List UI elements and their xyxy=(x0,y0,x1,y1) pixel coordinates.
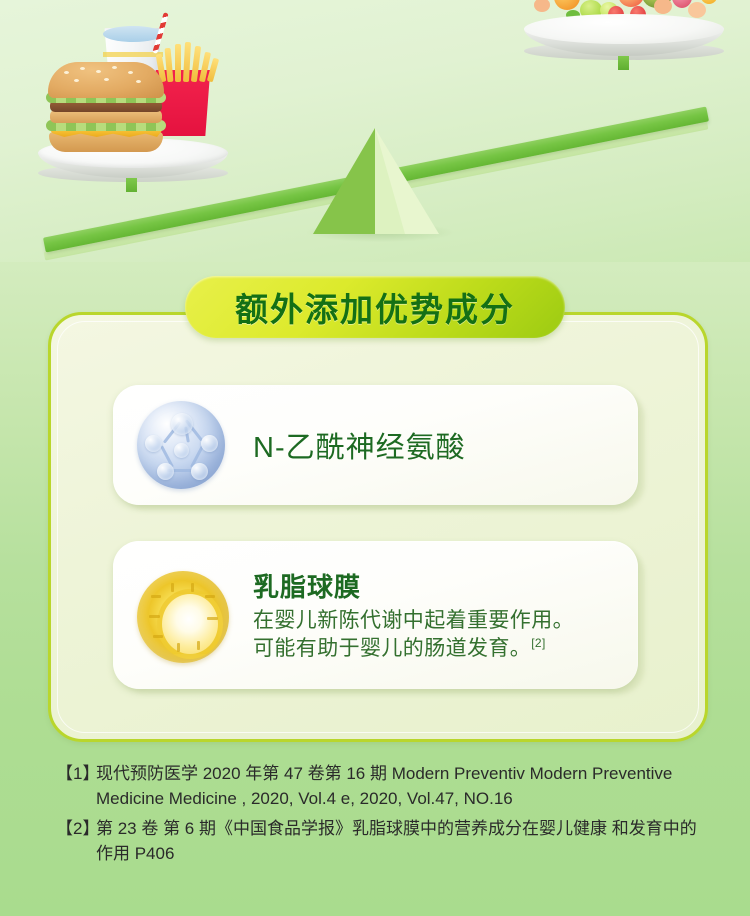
golden-milk-fat-globule-icon xyxy=(131,565,231,665)
section-title-text: 额外添加优势成分 xyxy=(235,283,515,331)
card-1-text: N-乙酰神经氨酸 xyxy=(231,424,638,466)
right-platter xyxy=(524,14,724,62)
left-platter-stem xyxy=(126,178,137,192)
footnote-1-body: 现代预防医学 2020 年第 47 卷第 16 期 Modern Prevent… xyxy=(96,762,704,811)
ingredient-card-sialic-acid[interactable]: N-乙酰神经氨酸 xyxy=(113,385,638,505)
drink-ice-top xyxy=(103,26,163,42)
blue-sphere xyxy=(137,401,225,489)
burger-top-bun xyxy=(48,62,164,98)
ingredient-card-mfgm[interactable]: 乳脂球膜 在婴儿新陈代谢中起着重要作用。 可能有助于婴儿的肠道发育。[2] xyxy=(113,541,638,689)
footnote-2: 【2】 第 23 卷 第 6 期《中国食品学报》乳脂球膜中的营养成分在婴儿健康 … xyxy=(56,817,704,866)
card-2-desc-line-2-wrap: 可能有助于婴儿的肠道发育。[2] xyxy=(253,635,638,663)
card-1-title: N-乙酰神经氨酸 xyxy=(253,424,638,466)
card-2-title: 乳脂球膜 xyxy=(253,567,638,604)
fast-food-group-icon xyxy=(40,10,230,146)
blue-molecule-sphere-icon xyxy=(131,395,231,495)
burger-icon xyxy=(46,62,166,146)
gold-sphere xyxy=(137,571,229,663)
footnotes: 【1】 现代预防医学 2020 年第 47 卷第 16 期 Modern Pre… xyxy=(56,762,704,873)
fulcrum-right-highlight xyxy=(375,128,405,234)
section-title-badge: 额外添加优势成分 xyxy=(185,276,565,338)
footnote-2-body: 第 23 卷 第 6 期《中国食品学报》乳脂球膜中的营养成分在婴儿健康 和发育中… xyxy=(96,817,704,866)
card-2-reference-superscript: [2] xyxy=(531,636,546,650)
card-2-desc-line-2: 可能有助于婴儿的肠道发育。 xyxy=(253,637,531,660)
card-2-text: 乳脂球膜 在婴儿新陈代谢中起着重要作用。 可能有助于婴儿的肠道发育。[2] xyxy=(231,567,638,663)
pyramid-fulcrum-icon xyxy=(313,128,441,234)
footnote-1-line-1: 现代预防医学 2020 年第 47 卷第 16 期 Modern Prevent… xyxy=(96,764,587,783)
card-2-desc-line-1: 在婴儿新陈代谢中起着重要作用。 xyxy=(253,607,638,635)
fulcrum-left-face xyxy=(313,128,375,234)
hero-illustration xyxy=(0,0,750,262)
gold-inner-ring xyxy=(157,589,223,659)
footnote-2-mark: 【2】 xyxy=(56,817,96,866)
footnote-1-mark: 【1】 xyxy=(56,762,96,811)
footnote-1: 【1】 现代预防医学 2020 年第 47 卷第 16 期 Modern Pre… xyxy=(56,762,704,811)
right-platter-stem xyxy=(618,56,629,70)
footnote-2-line-1: 第 23 卷 第 6 期《中国食品学报》乳脂球膜中的营养成分在婴儿健康 xyxy=(96,819,607,838)
right-platter-top xyxy=(524,14,724,44)
